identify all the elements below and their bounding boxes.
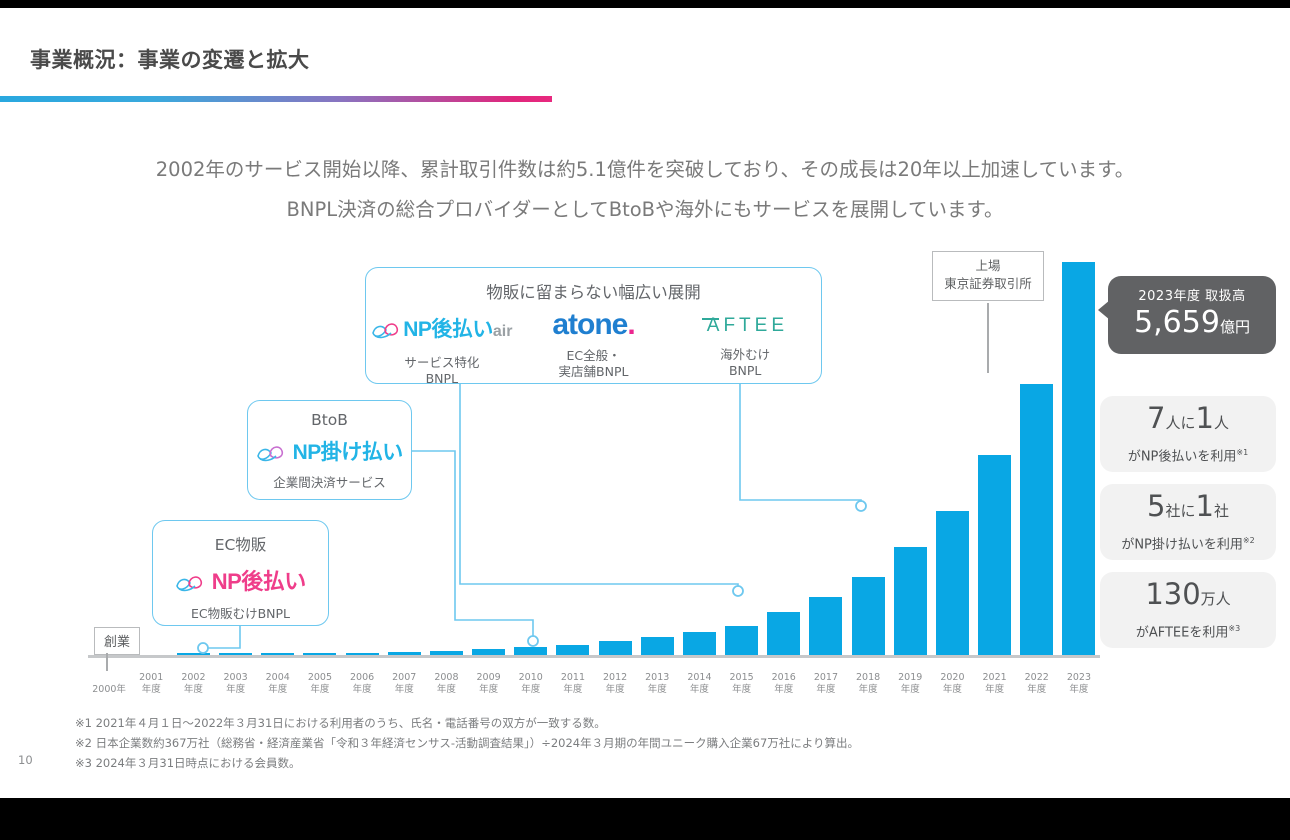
gmv-callout: 2023年度 取扱高 5,659億円: [1108, 276, 1276, 354]
product-box-ec-title: EC物販: [153, 533, 328, 555]
aftee-bar-icon: [702, 318, 719, 320]
stat-card-aftee: 130万人 がAFTEEを利用※3: [1100, 572, 1276, 648]
ipo-marker-stem: [987, 303, 989, 373]
stat1-footnote-ref: ※1: [1236, 448, 1248, 457]
stat3-desc-text: がAFTEEを利用: [1136, 625, 1229, 640]
stat-card-np-kakebarai-headline: 5社に1社: [1100, 484, 1276, 533]
x-tick-2022年度: 2022年度: [1016, 672, 1058, 695]
gmv-callout-unit: 億円: [1220, 318, 1250, 336]
stat-card-np-kakebarai: 5社に1社 がNP掛け払いを利用※2: [1100, 484, 1276, 560]
stat1-num2: 1: [1196, 401, 1214, 435]
stat1-num1: 7: [1147, 401, 1165, 435]
growth-bar-chart: 2000年2001年度2002年度2003年度2004年度2005年度2006年…: [0, 8, 1290, 798]
x-tick-2005年度: 2005年度: [299, 672, 341, 695]
bar-2016年度: [767, 612, 800, 655]
footnote-1: ※1 2021年４月１日～2022年３月31日における利用者のうち、氏名・電話番…: [75, 713, 859, 733]
bar-2019年度: [894, 547, 927, 655]
bar-2022年度: [1020, 384, 1053, 655]
stat3-num1: 130: [1145, 577, 1200, 611]
bar-2017年度: [809, 597, 842, 655]
x-tick-2001年度: 2001年度: [130, 672, 172, 695]
stat1-desc-text: がNP後払いを利用: [1128, 449, 1237, 464]
atone-logo-dot: .: [627, 308, 634, 341]
np-butterfly-icon: [371, 320, 401, 345]
np-air-logo-suffix: air: [493, 323, 513, 340]
x-tick-2023年度: 2023年度: [1058, 672, 1100, 695]
product-box-btob[interactable]: BtoB NP掛け払い 企業間決済サービス: [247, 400, 412, 500]
x-tick-2019年度: 2019年度: [889, 672, 931, 695]
x-tick-2011年度: 2011年度: [552, 672, 594, 695]
wide-item-aftee-logo: AFTEE: [669, 315, 821, 337]
x-tick-2004年度: 2004年度: [257, 672, 299, 695]
chart-axis-line: [88, 655, 1100, 658]
stat-card-aftee-desc: がAFTEEを利用※3: [1100, 621, 1276, 653]
stat3-footnote-ref: ※3: [1228, 624, 1240, 633]
ipo-label-line-1: 上場: [937, 257, 1039, 275]
stat3-mid1: 万人: [1201, 590, 1231, 608]
atone-logo-text: atone: [552, 308, 627, 341]
founding-marker-stem: [106, 653, 108, 671]
x-tick-2012年度: 2012年度: [594, 672, 636, 695]
x-tick-2007年度: 2007年度: [383, 672, 425, 695]
x-tick-2015年度: 2015年度: [721, 672, 763, 695]
wide-item-atone-sub2: 実店舗BNPL: [518, 364, 670, 380]
x-tick-2020年度: 2020年度: [931, 672, 973, 695]
stat-card-np-atobarai-headline: 7人に1人: [1100, 396, 1276, 445]
gmv-callout-value-row: 5,659億円: [1108, 304, 1276, 346]
footnotes: ※1 2021年４月１日～2022年３月31日における利用者のうち、氏名・電話番…: [75, 713, 859, 773]
np-kakebarai-logo-text: NP掛け払い: [293, 441, 403, 464]
x-tick-2021年度: 2021年度: [974, 672, 1016, 695]
stat2-desc-text: がNP掛け払いを利用: [1121, 537, 1243, 552]
x-tick-2006年度: 2006年度: [341, 672, 383, 695]
wide-item-aftee-sub2: BNPL: [669, 363, 821, 379]
wide-item-np-air-sub2: BNPL: [366, 371, 518, 387]
product-box-wide[interactable]: 物販に留まらない幅広い展開 NP後払いair サービス特化 BNPL: [365, 267, 822, 384]
x-tick-2014年度: 2014年度: [678, 672, 720, 695]
product-box-wide-title: 物販に留まらない幅広い展開: [366, 279, 821, 303]
stat-card-np-atobarai: 7人に1人 がNP後払いを利用※1: [1100, 396, 1276, 472]
stat2-num1: 5: [1147, 489, 1165, 523]
wide-item-atone-sub1: EC全般・: [518, 348, 670, 364]
x-tick-2000年: 2000年: [88, 684, 130, 696]
founding-marker-label: 創業: [94, 627, 140, 655]
x-tick-2009年度: 2009年度: [468, 672, 510, 695]
footnote-3: ※3 2024年３月31日時点における会員数。: [75, 753, 859, 773]
slide-canvas: 事業概況：事業の変遷と拡大 2002年のサービス開始以降、累計取引件数は約5.1…: [0, 8, 1290, 798]
ipo-label-line-2: 東京証券取引所: [937, 275, 1039, 293]
np-butterfly-icon: [175, 573, 205, 598]
product-box-wide-items: NP後払いair サービス特化 BNPL atone. EC全般・ 実店舗BNP…: [366, 313, 821, 387]
product-box-btob-logo: NP掛け払い: [248, 436, 411, 468]
x-tick-2018年度: 2018年度: [847, 672, 889, 695]
stat-card-np-kakebarai-desc: がNP掛け払いを利用※2: [1100, 533, 1276, 565]
footnote-2: ※2 日本企業数約367万社（総務省・経済産業省「令和３年経済センサス-活動調査…: [75, 733, 859, 753]
x-tick-2008年度: 2008年度: [425, 672, 467, 695]
stat-card-np-atobarai-desc: がNP後払いを利用※1: [1100, 445, 1276, 477]
stat2-footnote-ref: ※2: [1243, 536, 1255, 545]
bar-2010年度: [514, 647, 547, 655]
x-tick-2017年度: 2017年度: [805, 672, 847, 695]
stat-card-aftee-headline: 130万人: [1100, 572, 1276, 621]
x-tick-2010年度: 2010年度: [510, 672, 552, 695]
page-number: 10: [18, 753, 33, 767]
bar-2018年度: [852, 577, 885, 655]
stat1-mid2: 人: [1214, 414, 1229, 432]
product-box-ec[interactable]: EC物販 NP後払い EC物販むけBNPL: [152, 520, 329, 626]
product-box-ec-sub: EC物販むけBNPL: [153, 606, 328, 622]
product-box-btob-sub: 企業間決済サービス: [248, 475, 411, 491]
stat2-mid1: 社に: [1165, 502, 1195, 520]
bar-2011年度: [556, 645, 589, 655]
np-atobarai-logo-text: NP後払い: [212, 569, 306, 594]
np-air-logo-text: NP後払い: [403, 318, 493, 341]
bar-2023年度: [1062, 262, 1095, 655]
wide-item-np-air-logo: NP後払いair: [366, 313, 518, 345]
wide-item-aftee-sub1: 海外むけ: [669, 347, 821, 363]
np-butterfly-icon: [256, 443, 286, 468]
bar-2020年度: [936, 511, 969, 655]
bar-2012年度: [599, 641, 632, 655]
gmv-callout-label: 2023年度 取扱高: [1108, 276, 1276, 304]
wide-item-atone-logo: atone.: [518, 308, 670, 342]
bar-2013年度: [641, 637, 674, 655]
wide-item-atone[interactable]: atone. EC全般・ 実店舗BNPL: [518, 313, 670, 387]
stat2-num2: 1: [1196, 489, 1214, 523]
ipo-marker-label: 上場 東京証券取引所: [932, 251, 1044, 301]
stat1-mid1: 人に: [1165, 414, 1195, 432]
bar-2014年度: [683, 632, 716, 655]
x-tick-2013年度: 2013年度: [636, 672, 678, 695]
product-box-btob-title: BtoB: [248, 411, 411, 429]
wide-item-aftee[interactable]: AFTEE 海外むけ BNPL: [669, 313, 821, 387]
product-box-ec-logo: NP後払い: [153, 564, 328, 598]
x-tick-2003年度: 2003年度: [215, 672, 257, 695]
wide-item-np-air[interactable]: NP後払いair サービス特化 BNPL: [366, 313, 518, 387]
wide-item-np-air-sub1: サービス特化: [366, 355, 518, 371]
x-tick-2002年度: 2002年度: [172, 672, 214, 695]
bar-2021年度: [978, 455, 1011, 655]
x-tick-2016年度: 2016年度: [763, 672, 805, 695]
stat2-mid2: 社: [1214, 502, 1229, 520]
bar-2015年度: [725, 626, 758, 655]
gmv-callout-value: 5,659: [1134, 305, 1220, 340]
